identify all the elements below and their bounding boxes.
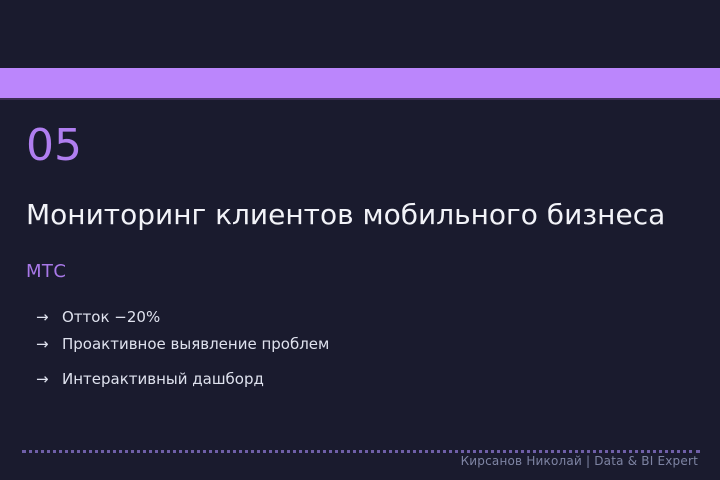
arrow-right-icon: → <box>36 372 62 387</box>
top-band <box>0 0 720 68</box>
list-item: → Отток −20% <box>36 310 696 325</box>
accent-bar-shadow <box>0 98 720 100</box>
slide-number: 05 <box>26 124 720 168</box>
list-item-label: Отток −20% <box>62 310 160 325</box>
list-item: → Интерактивный дашборд <box>36 372 696 387</box>
list-item-label: Проактивное выявление проблем <box>62 337 329 352</box>
presentation-slide: 05 Мониторинг клиентов мобильного бизнес… <box>0 0 720 480</box>
footer-credit: Кирсанов Николай | Data & BI Expert <box>461 454 698 468</box>
slide-subtitle: МТС <box>26 261 66 282</box>
list-item-label: Интерактивный дашборд <box>62 372 264 387</box>
list-item: → Проактивное выявление проблем <box>36 337 696 352</box>
slide-header: 05 <box>26 124 720 168</box>
arrow-right-icon: → <box>36 310 62 325</box>
bullet-list: → Отток −20% → Проактивное выявление про… <box>36 310 696 399</box>
arrow-right-icon: → <box>36 337 62 352</box>
footer-divider <box>22 450 700 453</box>
page-title: Мониторинг клиентов мобильного бизнеса <box>26 198 720 232</box>
accent-bar <box>0 68 720 98</box>
